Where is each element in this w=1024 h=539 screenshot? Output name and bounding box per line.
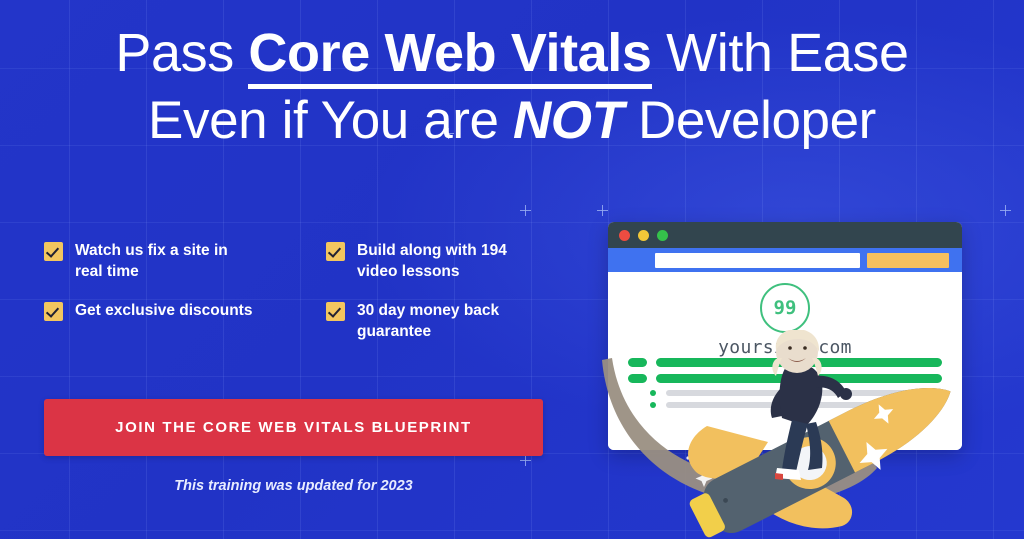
sparkle-icon xyxy=(520,205,531,216)
browser-toolbar xyxy=(608,248,962,272)
content-bar xyxy=(656,374,942,383)
check-icon xyxy=(326,242,345,261)
benefit-list: Watch us fix a site in real time Build a… xyxy=(44,240,564,360)
content-bar-row xyxy=(628,374,942,383)
content-bar xyxy=(666,402,942,408)
cta-note: This training was updated for 2023 xyxy=(44,478,543,494)
benefit-label: Build along with 194 video lessons xyxy=(357,240,537,283)
benefit-item: 30 day money back guarantee xyxy=(326,300,564,360)
bullet-icon xyxy=(650,402,656,408)
sparkle-icon xyxy=(597,205,608,216)
headline-line-2-suffix: Developer xyxy=(624,91,876,150)
window-minimize-icon xyxy=(638,230,649,241)
benefit-item: Get exclusive discounts xyxy=(44,300,326,360)
bullet-icon xyxy=(628,374,647,383)
headline-line-1-prefix: Pass xyxy=(115,23,248,83)
headline-line-1: Pass Core Web Vitals With Ease xyxy=(0,22,1024,86)
page-title: Pass Core Web Vitals With Ease Even if Y… xyxy=(0,22,1024,152)
url-input[interactable] xyxy=(655,253,860,268)
browser-page-content: 99 yoursite.com xyxy=(608,272,962,450)
content-bar-row xyxy=(650,402,942,408)
hero-banner: Pass Core Web Vitals With Ease Even if Y… xyxy=(0,0,1024,539)
browser-titlebar xyxy=(608,222,962,248)
headline-emphasis-not: NOT xyxy=(513,91,624,150)
window-maximize-icon xyxy=(657,230,668,241)
content-bar-row xyxy=(628,358,942,367)
content-bar-row xyxy=(650,390,942,396)
check-icon xyxy=(44,242,63,261)
content-bar xyxy=(656,358,942,367)
join-blueprint-button[interactable]: JOIN THE CORE WEB VITALS BLUEPRINT xyxy=(44,399,543,456)
headline-line-2: Even if You are NOT Developer xyxy=(0,90,1024,153)
sparkle-icon xyxy=(1000,205,1011,216)
toolbar-action-button[interactable] xyxy=(867,253,949,268)
browser-mockup: 99 yoursite.com xyxy=(608,222,962,450)
check-icon xyxy=(326,302,345,321)
benefit-item: Build along with 194 video lessons xyxy=(326,240,564,300)
headline-line-2-prefix: Even if You are xyxy=(148,91,513,150)
benefit-label: Get exclusive discounts xyxy=(75,300,252,321)
content-bar xyxy=(666,390,942,396)
headline-emphasis-core-web-vitals: Core Web Vitals xyxy=(248,23,651,89)
bullet-icon xyxy=(628,358,647,367)
performance-score-badge: 99 xyxy=(760,283,810,333)
bullet-icon xyxy=(650,390,656,396)
sparkle-icon xyxy=(520,455,531,466)
benefit-item: Watch us fix a site in real time xyxy=(44,240,326,300)
benefit-label: Watch us fix a site in real time xyxy=(75,240,255,283)
site-name-label: yoursite.com xyxy=(608,337,962,358)
headline-line-1-suffix: With Ease xyxy=(652,23,909,83)
window-close-icon xyxy=(619,230,630,241)
benefit-label: 30 day money back guarantee xyxy=(357,300,537,343)
check-icon xyxy=(44,302,63,321)
